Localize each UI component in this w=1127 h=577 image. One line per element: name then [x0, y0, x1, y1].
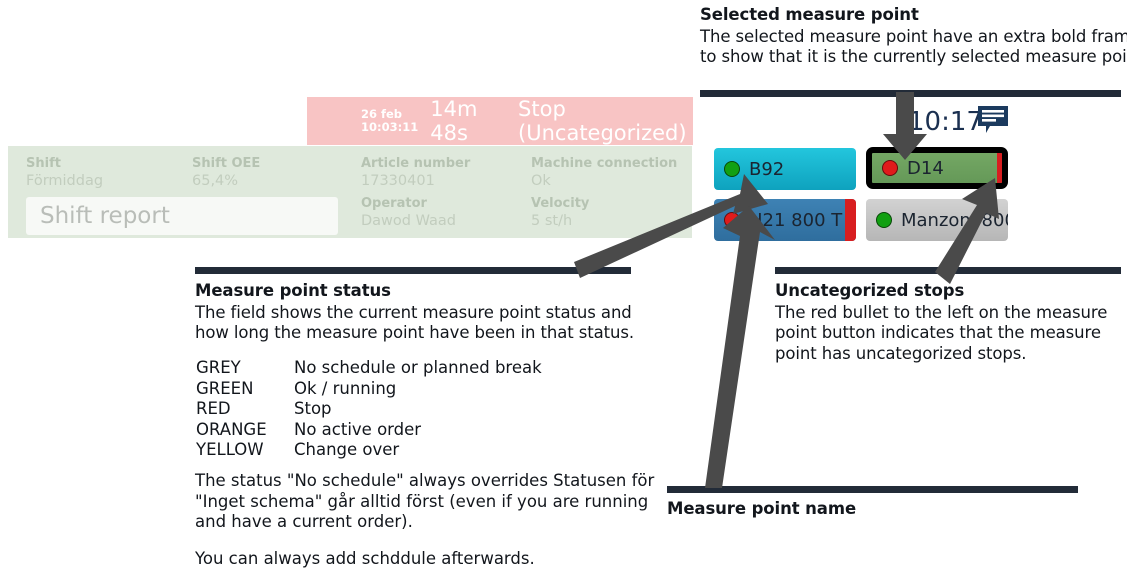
legend-row: GREEN Ok / running — [196, 379, 542, 400]
chat-message-icon[interactable] — [977, 105, 1009, 135]
legend-key: GREY — [196, 358, 294, 379]
stop-status-bar[interactable]: 26 feb 10:03:11 14m 48s Stop (Uncategori… — [307, 97, 693, 145]
field-value: 5 st/h — [531, 212, 589, 230]
stop-state-label: Stop (Uncategorized) — [518, 97, 693, 145]
legend-row: YELLOW Change over — [196, 440, 542, 461]
legend-key: GREEN — [196, 379, 294, 400]
field-label: Velocity — [531, 196, 589, 212]
field-article-number: Article number 17330401 — [361, 156, 470, 190]
shift-info-panel: Shift Förmiddag Shift OEE 65,4% Article … — [8, 146, 692, 238]
annotation-line: The field shows the current measure poin… — [195, 303, 645, 324]
legend-desc: Ok / running — [294, 379, 542, 400]
annotation-line: point has uncategorized stops. — [775, 344, 1120, 365]
measure-point-label: Manzoni 800T — [901, 210, 1008, 231]
annotation-title: Measure point status — [195, 281, 645, 302]
stop-duration: 14m 48s — [430, 97, 502, 145]
status-bullet-red-icon — [882, 160, 898, 176]
annotation-selected-measure-point: Selected measure point The selected meas… — [700, 5, 1125, 68]
clock-display: 10:17 — [908, 107, 983, 137]
legend-row: ORANGE No active order — [196, 420, 542, 441]
status-bullet-green-icon — [876, 212, 892, 228]
field-shift-oee: Shift OEE 65,4% — [192, 156, 260, 190]
measure-point-button-h21[interactable]: H21 800 T Mos — [714, 199, 856, 241]
legend-desc: Change over — [294, 440, 542, 461]
measure-point-button-manzoni[interactable]: Manzoni 800T — [866, 199, 1008, 241]
annotation-measure-point-status: Measure point status The field shows the… — [195, 281, 645, 344]
annotation-line: The selected measure point have an extra… — [700, 27, 1125, 48]
annotation-line: The status "No schedule" always override… — [195, 471, 654, 490]
annotation-line: how long the measure point have been in … — [195, 323, 645, 344]
field-label: Operator — [361, 196, 456, 212]
field-value: Dawod Waad — [361, 212, 456, 230]
annotation-rule-bottom — [667, 486, 1078, 493]
annotation-title: Uncategorized stops — [775, 281, 1120, 302]
field-label: Shift — [26, 156, 103, 172]
shift-report-button[interactable]: Shift report — [26, 197, 338, 235]
annotation-line: "Inget schema" går alltid först (even if… — [195, 492, 648, 511]
status-bullet-red-icon — [724, 212, 740, 228]
status-bullet-green-icon — [724, 161, 740, 177]
annotation-line: You can always add schddule afterwards. — [195, 549, 535, 568]
legend-desc: Stop — [294, 399, 542, 420]
annotation-line: point button indicates that the measure — [775, 323, 1120, 344]
measure-point-label: B92 — [749, 159, 784, 180]
legend-desc: No schedule or planned break — [294, 358, 542, 379]
annotation-line: The red bullet to the left on the measur… — [775, 303, 1120, 324]
field-label: Machine connection — [531, 156, 677, 172]
field-velocity: Velocity 5 st/h — [531, 196, 589, 230]
stop-time: 10:03:11 — [361, 121, 418, 134]
annotation-status-note: The status "No schedule" always override… — [195, 471, 655, 533]
uncategorized-stop-stripe — [997, 147, 1008, 189]
annotation-measure-point-name: Measure point name — [667, 499, 1097, 521]
field-label: Article number — [361, 156, 470, 172]
field-operator: Operator Dawod Waad — [361, 196, 456, 230]
annotation-rule-top — [700, 90, 1121, 97]
annotation-rule-left — [195, 267, 631, 274]
field-machine-connection: Machine connection Ok — [531, 156, 677, 190]
field-shift: Shift Förmiddag — [26, 156, 103, 190]
status-color-legend: GREY No schedule or planned break GREEN … — [196, 358, 542, 461]
annotation-title: Selected measure point — [700, 5, 1125, 26]
annotation-status-note-secondary: You can always add schddule afterwards. — [195, 549, 655, 570]
measure-point-button-b92[interactable]: B92 — [714, 148, 856, 190]
field-value: Ok — [531, 172, 677, 190]
annotation-rule-right — [775, 267, 1121, 274]
field-value: Förmiddag — [26, 172, 103, 190]
legend-key: YELLOW — [196, 440, 294, 461]
annotation-line: to show that it is the currently selecte… — [700, 47, 1125, 68]
legend-row: GREY No schedule or planned break — [196, 358, 542, 379]
measure-point-label: D14 — [907, 158, 944, 179]
legend-row: RED Stop — [196, 399, 542, 420]
field-label: Shift OEE — [192, 156, 260, 172]
field-value: 17330401 — [361, 172, 470, 190]
legend-key: RED — [196, 399, 294, 420]
uncategorized-stop-stripe — [845, 199, 856, 241]
field-value: 65,4% — [192, 172, 260, 190]
annotation-line: and have a current order). — [195, 512, 413, 531]
arrow-to-measure-point-name — [705, 206, 775, 488]
legend-key: ORANGE — [196, 420, 294, 441]
legend-desc: No active order — [294, 420, 542, 441]
annotation-uncategorized-stops: Uncategorized stops The red bullet to th… — [775, 281, 1120, 364]
measure-point-button-d14[interactable]: D14 — [866, 147, 1008, 189]
measure-point-label: H21 800 T Mos — [749, 210, 856, 231]
stop-timestamp: 26 feb 10:03:11 — [361, 108, 418, 134]
annotation-title: Measure point name — [667, 499, 1097, 520]
